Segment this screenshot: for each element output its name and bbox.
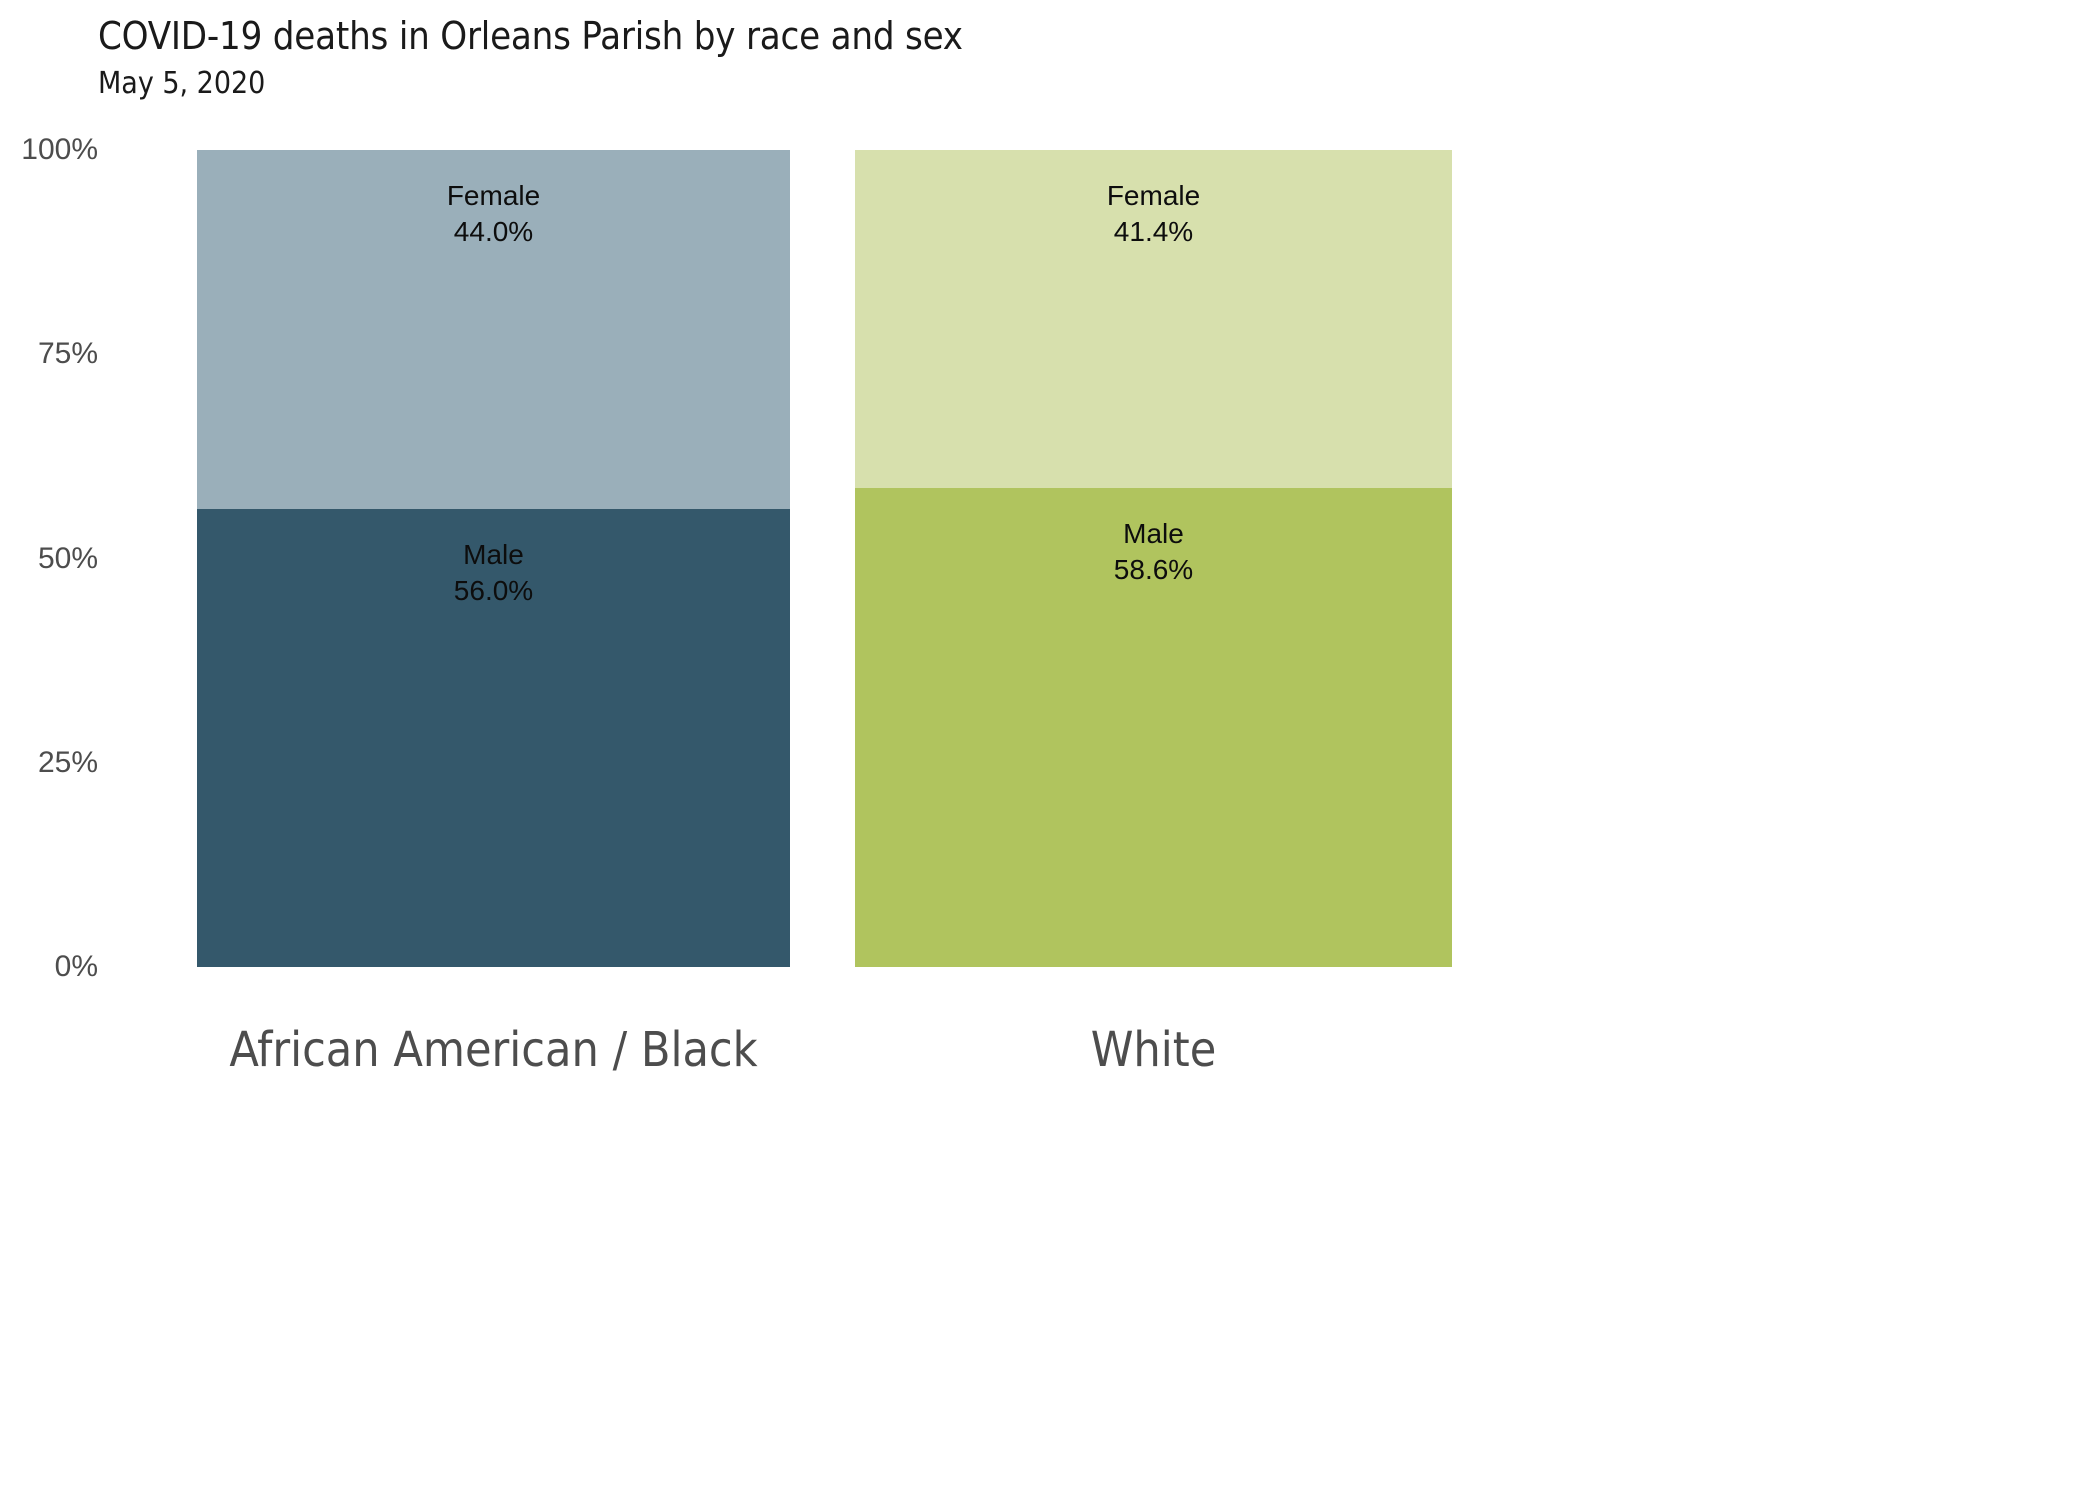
bar-segment-value: 41.4% bbox=[855, 214, 1452, 250]
bar-segment-male[interactable]: Male 56.0% bbox=[197, 509, 790, 967]
chart-subtitle: May 5, 2020 bbox=[98, 66, 265, 101]
bar-segment-series-name: Male bbox=[197, 537, 790, 573]
page-title: COVID-19 deaths in Orleans Parish by rac… bbox=[98, 14, 963, 58]
bar-group-white: Female 41.4% Male 58.6% bbox=[855, 150, 1452, 967]
bar-segment-label: Male 58.6% bbox=[855, 516, 1452, 588]
plot-area: Female 44.0% Male 56.0% Female 41.4% Mal… bbox=[0, 150, 2100, 967]
x-axis-category-label: White bbox=[855, 1022, 1452, 1078]
bar-segment-female[interactable]: Female 41.4% bbox=[855, 150, 1452, 488]
bar-segment-value: 44.0% bbox=[197, 214, 790, 250]
bar-segment-label: Male 56.0% bbox=[197, 537, 790, 609]
bar-segment-value: 58.6% bbox=[855, 552, 1452, 588]
bar-segment-male[interactable]: Male 58.6% bbox=[855, 488, 1452, 967]
bar-segment-series-name: Male bbox=[855, 516, 1452, 552]
bar-segment-series-name: Female bbox=[197, 178, 790, 214]
bar-segment-label: Female 41.4% bbox=[855, 178, 1452, 250]
x-axis-category-label: African American / Black bbox=[197, 1022, 790, 1078]
bar-segment-series-name: Female bbox=[855, 178, 1452, 214]
bar-group-african-american-black: Female 44.0% Male 56.0% bbox=[197, 150, 790, 967]
bar-segment-female[interactable]: Female 44.0% bbox=[197, 150, 790, 509]
bar-segment-label: Female 44.0% bbox=[197, 178, 790, 250]
bar-segment-value: 56.0% bbox=[197, 573, 790, 609]
